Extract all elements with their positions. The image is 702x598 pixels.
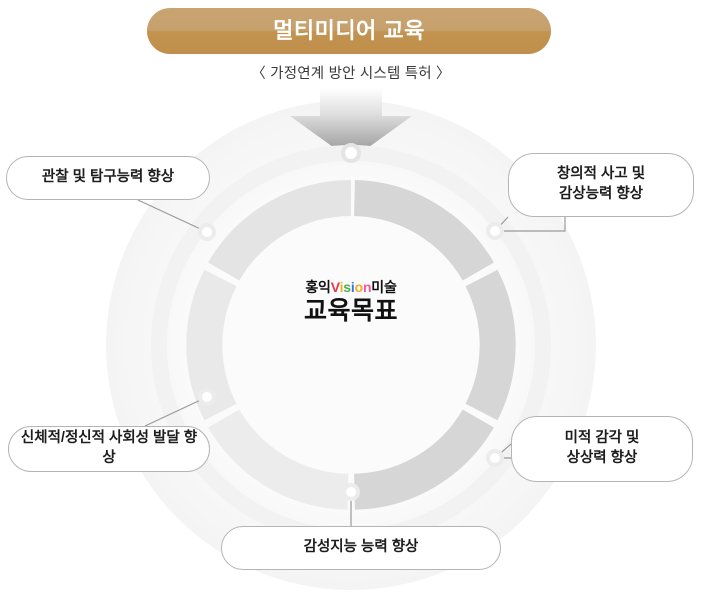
ring-hub-node-top[interactable] <box>343 145 359 161</box>
node-label-line: 감상능력 향상 <box>557 185 645 205</box>
node-label-line: 상상력 향상 <box>565 449 640 469</box>
node-label-line: 미적 감각 및 <box>565 429 640 449</box>
node-box-social-development[interactable]: 감성지능 능력 향상 <box>221 526 501 570</box>
ring-hub-node-bottom-right[interactable] <box>488 451 502 465</box>
node-box-observation[interactable]: 관찰 및 탐구능력 향상 <box>6 156 210 200</box>
ring-hub-node-bottom-left[interactable] <box>200 390 214 404</box>
node-label-line: 창의적 사고 및 <box>557 165 645 185</box>
node-label-line: 관찰 및 탐구능력 향상 <box>42 168 174 188</box>
node-label-line: 감성지능 능력 향상 <box>304 538 419 558</box>
node-box-aesthetic-imagination[interactable]: 미적 감각 및 상상력 향상 <box>511 416 693 482</box>
diagram-graphics <box>0 0 702 598</box>
node-label-line: 신체적/정신적 사회성 발달 향상 <box>19 429 199 468</box>
ring-segment-5 <box>482 278 498 412</box>
diagram-canvas: 멀티미디어 교육 〈 가정연계 방안 시스템 특허 〉 <box>0 0 702 598</box>
ring-hub-node-top-right[interactable] <box>488 224 502 238</box>
ring-hub-node-top-left[interactable] <box>200 225 214 239</box>
node-box-creative-thinking[interactable]: 창의적 사고 및 감상능력 향상 <box>508 153 694 217</box>
ring-hub-node-bottom[interactable] <box>344 485 358 499</box>
node-box-emotional-intelligence[interactable]: 신체적/정신적 사회성 발달 향상 <box>8 426 210 472</box>
